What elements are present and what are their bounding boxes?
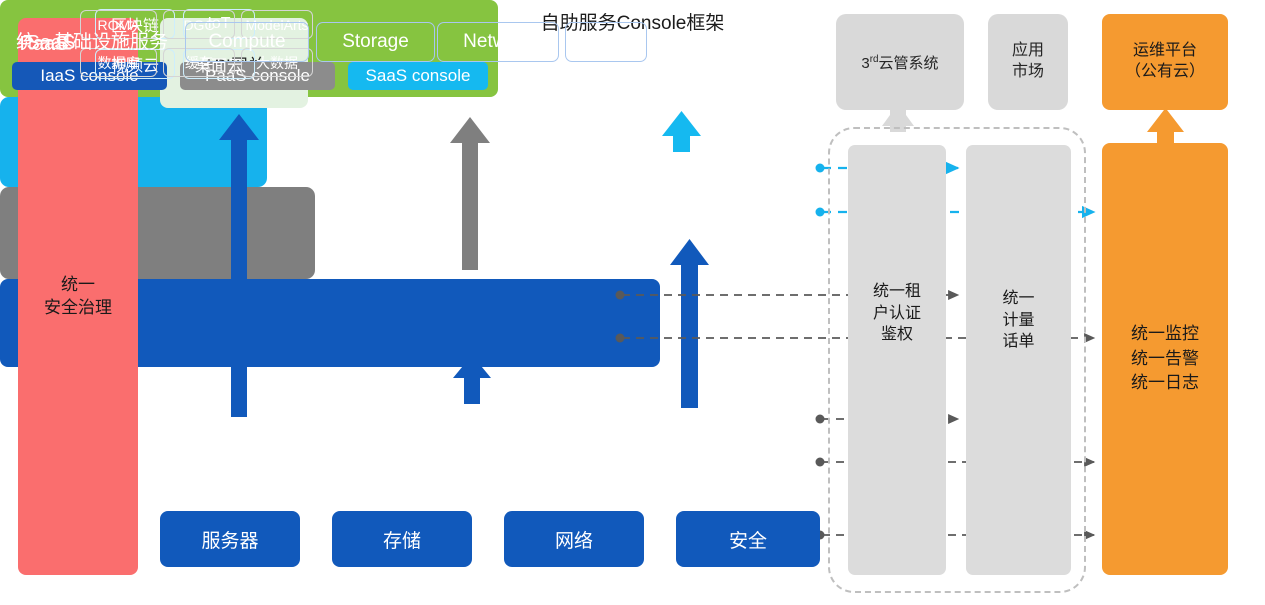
infra-chip-storage[interactable]: Storage xyxy=(316,22,435,62)
arrow-infra-to-saas xyxy=(670,239,709,408)
arrow-saas-to-console xyxy=(662,111,701,152)
resource-box-network[interactable]: 网络 xyxy=(504,511,644,567)
third-cloud-suffix: 云管系统 xyxy=(879,55,939,72)
resource-box-storage[interactable]: 存储 xyxy=(332,511,472,567)
infra-chip-network[interactable]: Network xyxy=(437,22,559,62)
unified-tenant-auth-column xyxy=(848,145,946,575)
third-cloud-label: 3rd云管系统 xyxy=(861,52,938,73)
arrow-paas-to-console xyxy=(450,117,490,270)
third-party-cloud-management-box[interactable]: 3rd云管系统 xyxy=(836,14,964,110)
unified-tenant-auth-label: 统一租 户认证 鉴权 xyxy=(848,281,946,346)
ops-platform-public-cloud-box[interactable]: 运维平台 （公有云） xyxy=(1102,14,1228,110)
resource-box-server[interactable]: 服务器 xyxy=(160,511,300,567)
third-cloud-prefix: 3 xyxy=(861,55,869,72)
unified-metering-billing-label: 统一 计量 话单 xyxy=(966,288,1071,353)
unified-security-governance-panel: 统一 安全治理 xyxy=(18,18,138,575)
unified-metering-billing-column xyxy=(966,145,1071,575)
resource-box-security[interactable]: 安全 xyxy=(676,511,820,567)
architecture-diagram: 统一 安全治理 API网关 自助服务Console框架 IaaS console… xyxy=(0,0,1265,605)
infra-chip-compute[interactable]: Compute xyxy=(185,22,309,62)
ops-monitoring-alarm-log-panel: 统一监控 统一告警 统一日志 xyxy=(1102,143,1228,575)
saas-console-chip[interactable]: SaaS console xyxy=(348,62,488,90)
infrastructure-label: 统一基础设施服务 xyxy=(16,27,168,54)
third-cloud-superscript: rd xyxy=(870,54,879,65)
infra-chip-cce[interactable]: CCE xyxy=(565,22,647,62)
arrow-ops-head-to-body xyxy=(1147,108,1184,147)
app-market-box[interactable]: 应用 市场 xyxy=(988,14,1068,110)
